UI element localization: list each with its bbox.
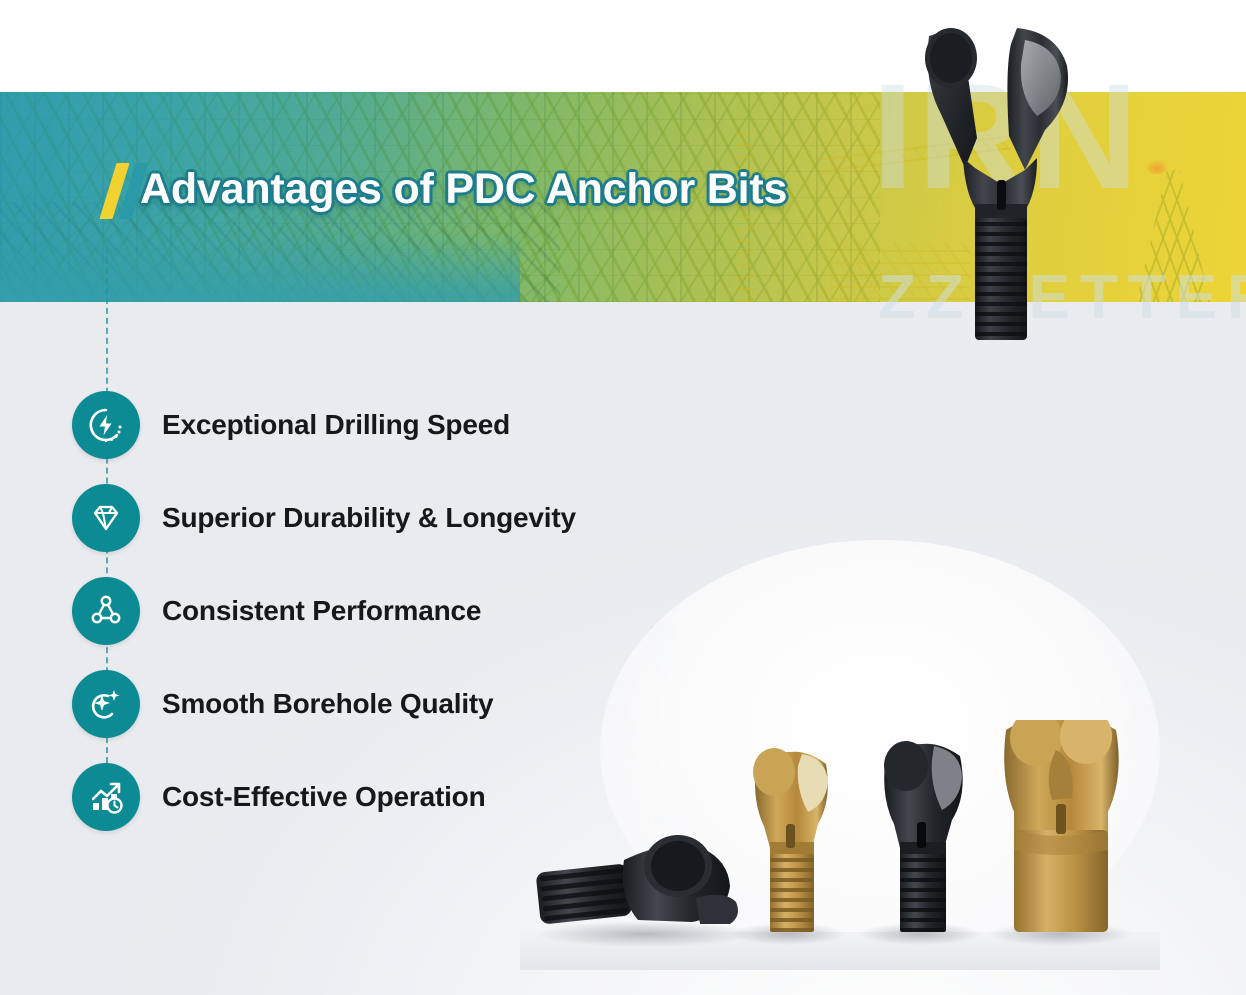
feature-item-cost-effective[interactable]: Cost-Effective Operation [72,750,712,843]
page-title: Advantages of PDC Anchor Bits [140,165,787,214]
feature-item-drilling-speed[interactable]: Exceptional Drilling Speed [72,378,712,471]
diamond-icon [72,484,140,552]
feature-label: Smooth Borehole Quality [162,688,493,720]
hero-product-image [905,18,1095,348]
derrick-flame-icon [1146,160,1168,174]
feature-label: Superior Durability & Longevity [162,502,576,534]
banner-bottom-overlay [0,232,520,302]
network-triangle-icon [72,577,140,645]
feature-label: Exceptional Drilling Speed [162,409,510,441]
feature-list: Exceptional Drilling Speed Superior Dura… [72,378,712,843]
bit-black-standing [884,741,963,932]
crane-tower-icon [735,132,753,302]
feature-item-durability[interactable]: Superior Durability & Longevity [72,471,712,564]
bit-black-lying [536,835,738,925]
bit-gold-standing-small [753,748,828,932]
feature-label: Cost-Effective Operation [162,781,485,813]
feature-item-borehole-quality[interactable]: Smooth Borehole Quality [72,657,712,750]
feature-label: Consistent Performance [162,595,481,627]
feature-item-consistent-performance[interactable]: Consistent Performance [72,564,712,657]
infographic-page: Advantages of PDC Anchor Bits IRN ZZBETT… [0,0,1246,995]
growth-chart-clock-icon [72,763,140,831]
lightning-speed-icon [72,391,140,459]
sparkle-shine-icon [72,670,140,738]
bit-gold-large [1004,720,1118,932]
